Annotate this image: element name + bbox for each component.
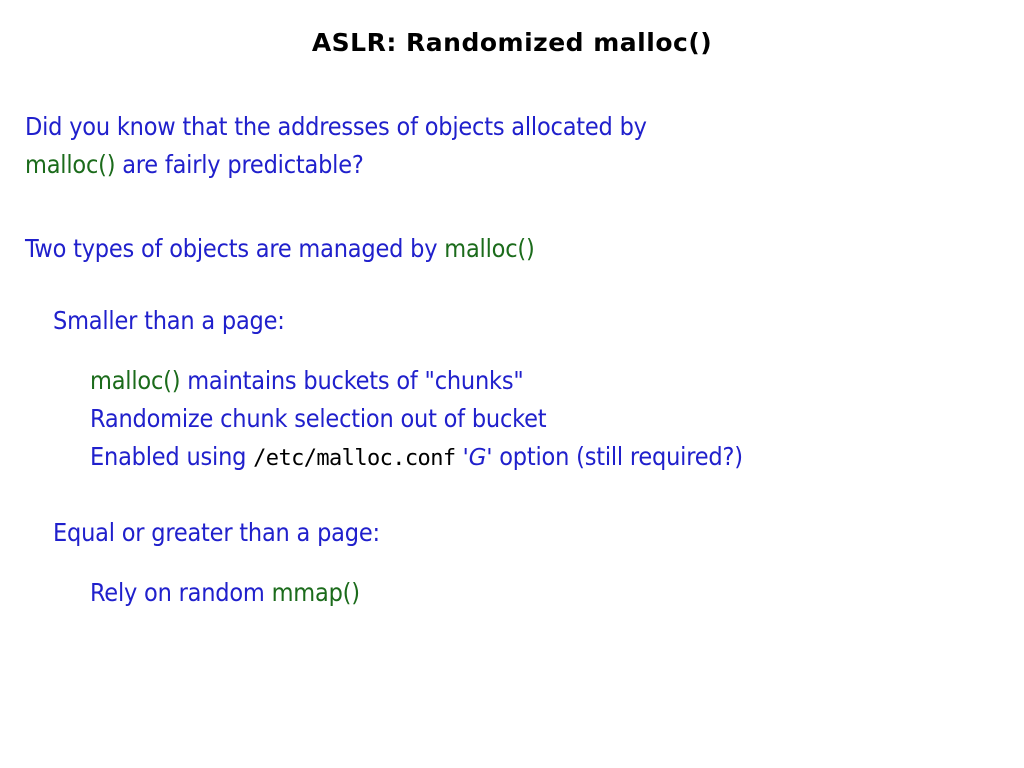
intro-text-line-1: Did you know that the addresses of objec…: [25, 112, 647, 141]
page-title: ASLR: Randomized malloc(): [0, 28, 1024, 57]
intro-paragraph-line-2: malloc() are fairly predictable?: [0, 146, 1024, 184]
spacer: [0, 552, 1024, 574]
types-statement-prefix: Two types of objects are managed by: [25, 234, 444, 263]
option-letter-g: G: [469, 445, 487, 471]
bullet-enabled-prefix: Enabled using: [90, 442, 253, 471]
malloc-conf-path: /etc/malloc.conf: [253, 446, 455, 471]
types-statement: Two types of objects are managed by mall…: [0, 230, 1024, 268]
bullet-enabled-suffix: option (still required?): [492, 442, 742, 471]
section-heading-label: Smaller than a page:: [53, 306, 285, 335]
spacer: [0, 268, 1024, 302]
slide-body: Did you know that the addresses of objec…: [0, 108, 1024, 612]
bullet-randomize-chunk-text: Randomize chunk selection out of bucket: [90, 404, 546, 433]
section-heading-smaller-than-page: Smaller than a page:: [0, 302, 1024, 340]
spacer: [0, 340, 1024, 362]
slide-canvas: ASLR: Randomized malloc() Did you know t…: [0, 0, 1024, 768]
bullet-rely-on-mmap-prefix: Rely on random: [90, 578, 272, 607]
section-heading-equal-or-greater: Equal or greater than a page:: [0, 514, 1024, 552]
bullet-malloc-buckets-text: maintains buckets of "chunks": [180, 366, 523, 395]
malloc-code-token: malloc(): [444, 234, 534, 263]
intro-paragraph-line-1: Did you know that the addresses of objec…: [0, 108, 1024, 146]
malloc-code-token: malloc(): [90, 366, 180, 395]
malloc-code-token: malloc(): [25, 150, 115, 179]
mmap-code-token: mmap(): [272, 578, 360, 607]
bullet-rely-on-mmap: Rely on random mmap(): [0, 574, 1024, 612]
intro-text-line-2: are fairly predictable?: [115, 150, 363, 179]
bullet-enabled-using-conf: Enabled using /etc/malloc.conf 'G' optio…: [0, 438, 1024, 478]
bullet-malloc-buckets: malloc() maintains buckets of "chunks": [0, 362, 1024, 400]
spacer: [0, 184, 1024, 230]
spacer: [0, 478, 1024, 514]
section-heading-label: Equal or greater than a page:: [53, 518, 380, 547]
bullet-randomize-chunk: Randomize chunk selection out of bucket: [0, 400, 1024, 438]
